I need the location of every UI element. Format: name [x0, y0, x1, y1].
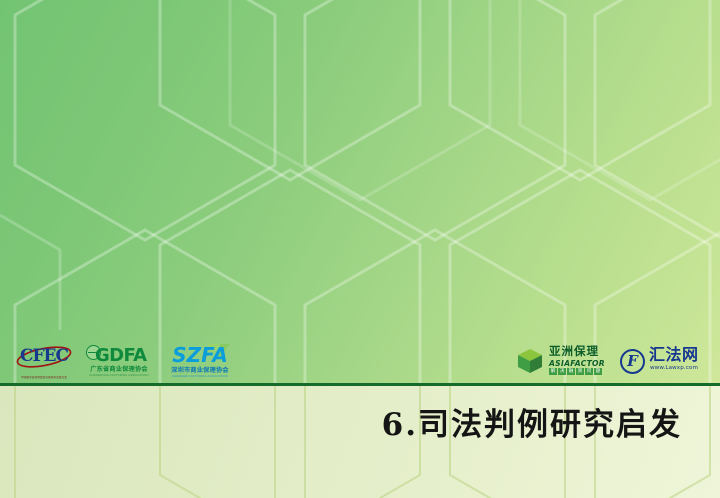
slide-background-upper: [0, 0, 720, 386]
szfa-chinese-name: 深圳市商业保理协会: [164, 367, 236, 375]
cfec-acronym: CFEC: [14, 346, 74, 366]
hexagon-pattern-icon: [0, 0, 720, 386]
lawxp-logo: F 汇法网 www.Lawxp.com: [620, 344, 712, 378]
page-title: 6.司法判例研究启发: [382, 408, 682, 444]
green-cube-icon: [516, 347, 544, 375]
gdfa-english-name: GUANGDONG FACTORING ASSOCIATION: [86, 374, 152, 378]
partner-logos-right: 亚洲保理 ASIAFACTOR 解 决 融 资 问 题 F 汇法网 www.La…: [516, 340, 712, 382]
presentation-slide: CFEC 中国服务贸易协会商业保理专业委员会 GDFA 广东省商业保理协会 GU…: [0, 0, 720, 498]
cfec-logo: CFEC 中国服务贸易协会商业保理专业委员会: [14, 344, 74, 380]
lawxp-monogram: F: [622, 351, 643, 372]
cfec-subtitle: 中国服务贸易协会商业保理专业委员会: [14, 376, 74, 380]
lawxp-wordmark: 汇法网 www.Lawxp.com: [649, 346, 711, 376]
f-circle-icon: F: [620, 349, 645, 374]
szfa-english-name: SHENZHEN FACTORING ASSOCIATION: [164, 375, 236, 379]
asiafactor-chinese-name: 亚洲保理: [549, 346, 599, 359]
asiafactor-logo: 亚洲保理 ASIAFACTOR 解 决 融 资 问 题: [516, 344, 612, 378]
szfa-acronym: SZFA: [164, 345, 236, 366]
tagline-box: 融: [567, 368, 575, 375]
tagline-box: 资: [576, 368, 584, 375]
asiafactor-english-name: ASIAFACTOR: [549, 359, 605, 368]
tagline-box: 题: [594, 368, 602, 375]
lawxp-url: www.Lawxp.com: [650, 365, 698, 372]
szfa-logo: SZFA 深圳市商业保理协会 SHENZHEN FACTORING ASSOCI…: [164, 344, 236, 380]
lawxp-chinese-name: 汇法网: [649, 346, 699, 365]
asiafactor-tagline-boxes: 解 决 融 资 问 题: [549, 368, 602, 375]
partner-logos-left: CFEC 中国服务贸易协会商业保理专业委员会 GDFA 广东省商业保理协会 GU…: [14, 342, 236, 380]
gdfa-acronym: GDFA: [95, 346, 146, 365]
tagline-box: 解: [549, 368, 557, 375]
tagline-box: 决: [558, 368, 566, 375]
tagline-box: 问: [585, 368, 593, 375]
asiafactor-wordmark: 亚洲保理 ASIAFACTOR 解 决 融 资 问 题: [549, 346, 611, 376]
gdfa-logo: GDFA 广东省商业保理协会 GUANGDONG FACTORING ASSOC…: [86, 344, 152, 380]
gdfa-chinese-name: 广东省商业保理协会: [86, 366, 152, 374]
